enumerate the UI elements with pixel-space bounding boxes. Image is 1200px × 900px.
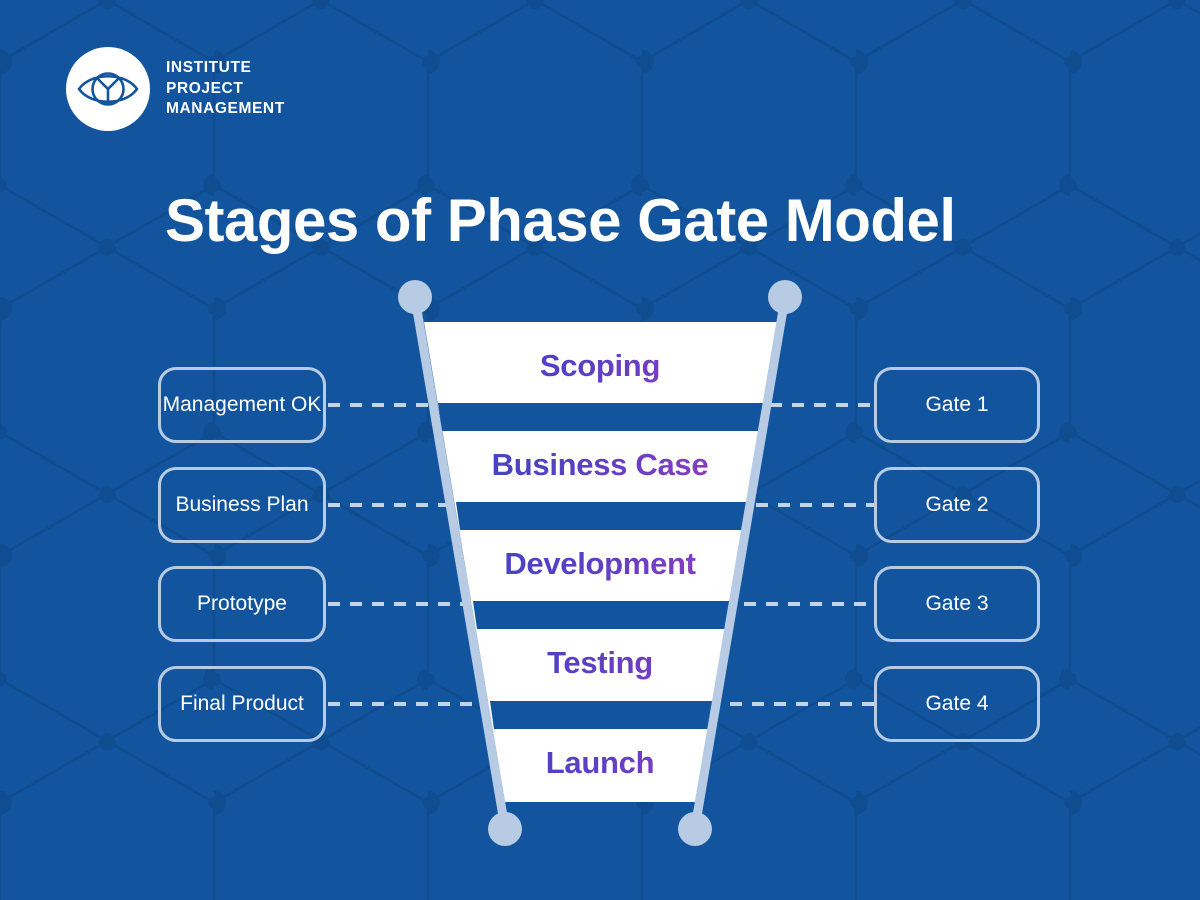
deliverable-management-ok[interactable]: Management OK [158,367,326,443]
stage-label-scoping: Scoping [380,348,820,384]
stage-label-development: Development [380,546,820,582]
deliverable-business-plan[interactable]: Business Plan [158,467,326,543]
phase-gate-funnel: Scoping Business Case Development Testin… [380,280,820,860]
brand-wordmark: INSTITUTE PROJECT MANAGEMENT [166,58,285,120]
brand-line-1: INSTITUTE [166,58,285,79]
stage-label-business-case: Business Case [380,447,820,483]
brand-logo: INSTITUTE PROJECT MANAGEMENT [66,47,285,131]
deliverable-final-product[interactable]: Final Product [158,666,326,742]
gate-2[interactable]: Gate 2 [874,467,1040,543]
gate-3[interactable]: Gate 3 [874,566,1040,642]
slide-canvas: INSTITUTE PROJECT MANAGEMENT Stages of P… [0,0,1200,900]
deliverable-prototype[interactable]: Prototype [158,566,326,642]
gate-4[interactable]: Gate 4 [874,666,1040,742]
brand-line-2: PROJECT [166,79,285,100]
eye-logo-icon [66,47,150,131]
brand-line-3: MANAGEMENT [166,99,285,120]
gate-1[interactable]: Gate 1 [874,367,1040,443]
page-title: Stages of Phase Gate Model [165,186,956,255]
stage-label-launch: Launch [380,745,820,781]
stage-label-testing: Testing [380,645,820,681]
